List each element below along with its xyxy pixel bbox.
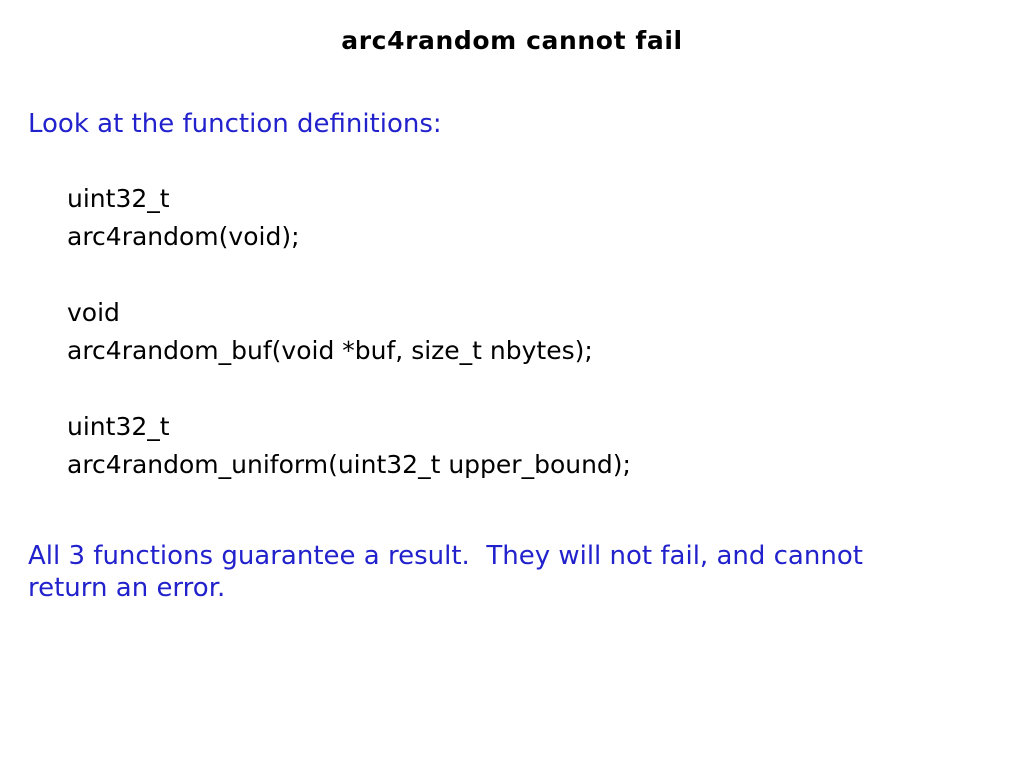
code-block-arc4random-buf: voidarc4random_buf(void *buf, size_t nby… xyxy=(67,294,996,370)
slide-body: Look at the function definitions: uint32… xyxy=(28,108,996,604)
slide-canvas: arc4random cannot fail Look at the funct… xyxy=(0,0,1024,768)
closing-text-line-1: All 3 functions guarantee a result. They… xyxy=(28,540,928,572)
code-line-return-type: uint32_t xyxy=(67,408,996,446)
code-line-signature: arc4random_buf(void *buf, size_t nbytes)… xyxy=(67,332,996,370)
closing-text: All 3 functions guarantee a result. They… xyxy=(28,540,928,604)
code-line-signature: arc4random_uniform(uint32_t upper_bound)… xyxy=(67,446,996,484)
code-listing-group: uint32_tarc4random(void); voidarc4random… xyxy=(67,180,996,484)
lead-text: Look at the function definitions: xyxy=(28,108,996,140)
code-block-arc4random-uniform: uint32_tarc4random_uniform(uint32_t uppe… xyxy=(67,408,996,484)
page-title: arc4random cannot fail xyxy=(0,26,1024,56)
code-line-return-type: void xyxy=(67,294,996,332)
code-block-arc4random: uint32_tarc4random(void); xyxy=(67,180,996,256)
code-line-return-type: uint32_t xyxy=(67,180,996,218)
closing-text-line-2: return an error. xyxy=(28,572,928,604)
code-line-signature: arc4random(void); xyxy=(67,218,996,256)
